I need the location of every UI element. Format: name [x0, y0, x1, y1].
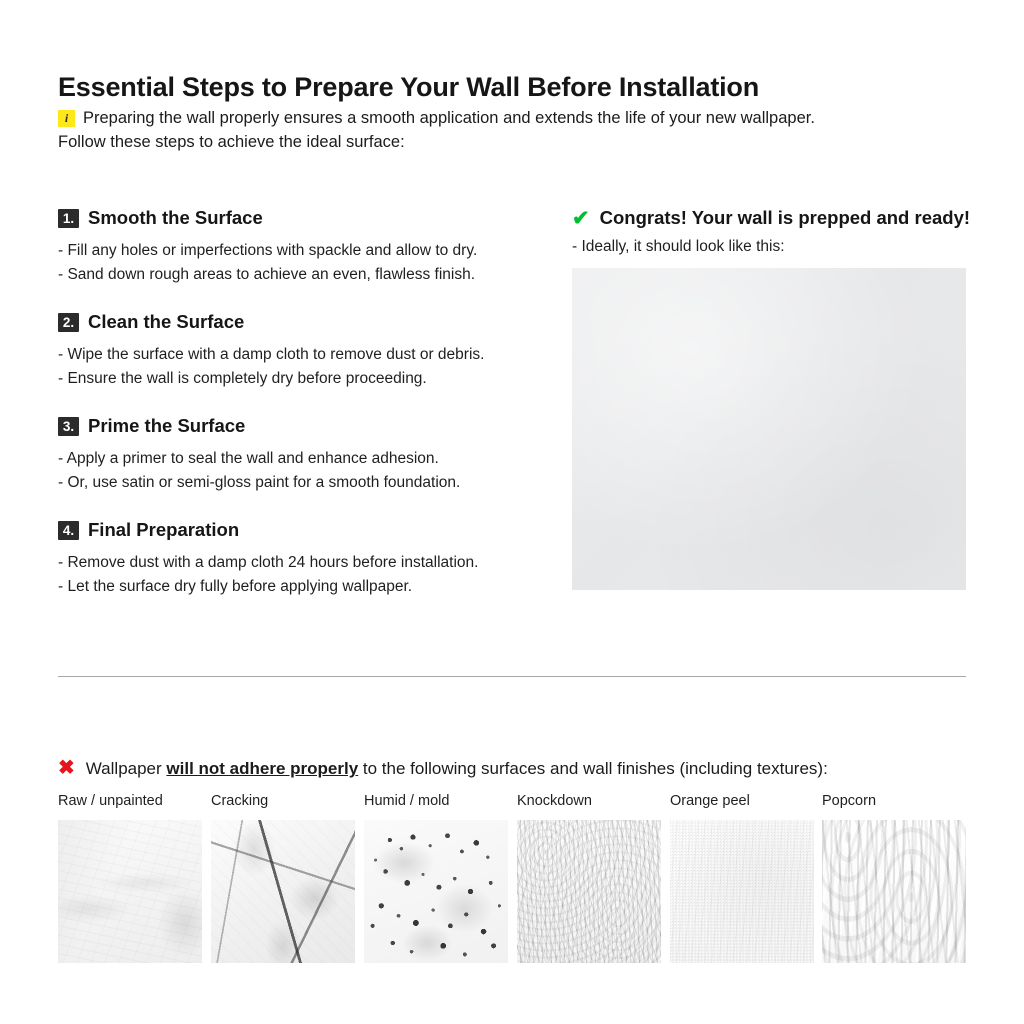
- warning-suffix: to the following surfaces and wall finis…: [358, 759, 828, 778]
- steps-column: 1. Smooth the Surface - Fill any holes o…: [58, 206, 528, 598]
- step-3-bullet-2: - Or, use satin or semi-gloss paint for …: [58, 471, 528, 495]
- surface-thumbnail-popcorn: [822, 820, 966, 963]
- congrats-heading: ✔ Congrats! Your wall is prepped and rea…: [572, 206, 966, 230]
- congrats-subtext: - Ideally, it should look like this:: [572, 236, 966, 258]
- step-2: 2. Clean the Surface - Wipe the surface …: [58, 310, 528, 390]
- prepped-wall-photo: [572, 268, 966, 590]
- step-4-bullet-1: - Remove dust with a damp cloth 24 hours…: [58, 551, 528, 575]
- step-3-number-badge: 3.: [58, 417, 79, 436]
- step-1-bullet-1: - Fill any holes or imperfections with s…: [58, 239, 528, 263]
- warning-line: ✖ Wallpaper will not adhere properly to …: [58, 758, 828, 779]
- surface-label-humid-mold: Humid / mold: [364, 792, 508, 810]
- surface-item-orange-peel: Orange peel: [670, 792, 814, 963]
- surface-thumbnail-humid-mold: [364, 820, 508, 963]
- step-2-bullet-1: - Wipe the surface with a damp cloth to …: [58, 343, 528, 367]
- intro-line-2: Follow these steps to achieve the ideal …: [58, 133, 405, 151]
- step-1-bullet-2: - Sand down rough areas to achieve an ev…: [58, 263, 528, 287]
- warning-emphasis: will not adhere properly: [166, 759, 358, 778]
- step-3: 3. Prime the Surface - Apply a primer to…: [58, 414, 528, 494]
- surface-label-popcorn: Popcorn: [822, 792, 966, 810]
- step-1-number-badge: 1.: [58, 209, 79, 228]
- step-3-heading: 3. Prime the Surface: [58, 414, 528, 438]
- congrats-heading-text: Congrats! Your wall is prepped and ready…: [600, 207, 970, 229]
- step-1: 1. Smooth the Surface - Fill any holes o…: [58, 206, 528, 286]
- check-icon: ✔: [572, 208, 590, 229]
- surface-item-humid-mold: Humid / mold: [364, 792, 508, 963]
- step-2-heading: 2. Clean the Surface: [58, 310, 528, 334]
- intro-line-1: Preparing the wall properly ensures a sm…: [83, 109, 815, 127]
- surface-thumbnail-raw-unpainted: [58, 820, 202, 963]
- step-2-bullet-2: - Ensure the wall is completely dry befo…: [58, 367, 528, 391]
- surface-item-cracking: Cracking: [211, 792, 355, 963]
- step-2-title: Clean the Surface: [88, 311, 244, 333]
- surface-label-raw-unpainted: Raw / unpainted: [58, 792, 202, 810]
- surface-thumbnail-orange-peel: [670, 820, 814, 963]
- step-1-heading: 1. Smooth the Surface: [58, 206, 528, 230]
- surface-label-cracking: Cracking: [211, 792, 355, 810]
- step-3-title: Prime the Surface: [88, 415, 245, 437]
- surface-label-orange-peel: Orange peel: [670, 792, 814, 810]
- warning-text: Wallpaper will not adhere properly to th…: [86, 759, 828, 779]
- step-4: 4. Final Preparation - Remove dust with …: [58, 518, 528, 598]
- surface-item-raw-unpainted: Raw / unpainted: [58, 792, 202, 963]
- warning-prefix: Wallpaper: [86, 759, 167, 778]
- info-icon: i: [58, 110, 75, 127]
- section-divider: [58, 676, 966, 677]
- document-page: Essential Steps to Prepare Your Wall Bef…: [58, 0, 966, 1024]
- step-2-number-badge: 2.: [58, 313, 79, 332]
- page-title: Essential Steps to Prepare Your Wall Bef…: [58, 72, 759, 103]
- surface-item-popcorn: Popcorn: [822, 792, 966, 963]
- step-4-number-badge: 4.: [58, 521, 79, 540]
- surface-label-knockdown: Knockdown: [517, 792, 661, 810]
- step-1-title: Smooth the Surface: [88, 207, 263, 229]
- step-4-bullet-2: - Let the surface dry fully before apply…: [58, 575, 528, 599]
- result-column: ✔ Congrats! Your wall is prepped and rea…: [572, 206, 966, 590]
- x-icon: ✖: [58, 758, 75, 778]
- step-4-title: Final Preparation: [88, 519, 239, 541]
- surface-thumbnail-cracking: [211, 820, 355, 963]
- step-4-heading: 4. Final Preparation: [58, 518, 528, 542]
- intro-paragraph: iPreparing the wall properly ensures a s…: [58, 106, 968, 154]
- surface-thumbnail-knockdown: [517, 820, 661, 963]
- surface-item-knockdown: Knockdown: [517, 792, 661, 963]
- step-3-bullet-1: - Apply a primer to seal the wall and en…: [58, 447, 528, 471]
